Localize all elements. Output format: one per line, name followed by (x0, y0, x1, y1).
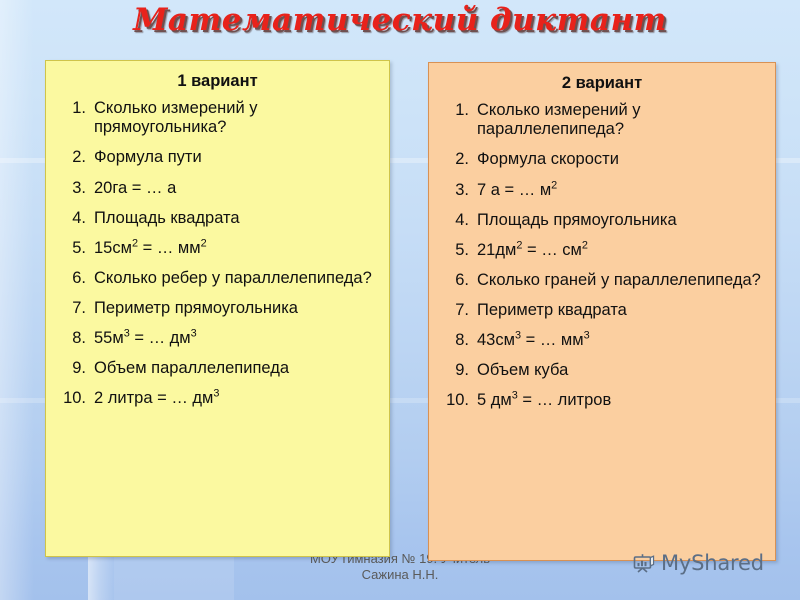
list-item-text: Сколько граней у параллелепипеда? (477, 271, 765, 290)
list-item: 6.Сколько ребер у параллелепипеда? (56, 269, 379, 288)
variant-2-question-list: 1.Сколько измерений у параллелепипеда?2.… (439, 101, 765, 410)
list-item-text: 55м3 = … дм3 (94, 329, 379, 348)
page-title: Математический диктант (0, 2, 800, 38)
list-item-text: Периметр прямоугольника (94, 299, 379, 318)
list-item-text: Сколько ребер у параллелепипеда? (94, 269, 379, 288)
list-item-number: 7. (439, 301, 469, 320)
list-item-text: Сколько измерений у параллелепипеда? (477, 101, 765, 139)
list-item-number: 1. (56, 99, 86, 118)
list-item-text: Формула пути (94, 148, 379, 167)
list-item-number: 1. (439, 101, 469, 120)
variant-1-heading: 1 вариант (56, 72, 379, 90)
list-item: 9.Объем параллелепипеда (56, 359, 379, 378)
myshared-watermark: MyShared (632, 551, 764, 575)
list-item-text: 21дм2 = … см2 (477, 241, 765, 260)
list-item-text: 7 а = … м2 (477, 181, 765, 200)
presentation-board-icon (632, 551, 656, 575)
list-item: 2.Формула скорости (439, 150, 765, 169)
list-item-number: 6. (56, 269, 86, 288)
list-item-number: 3. (56, 179, 86, 198)
list-item-text: Площадь прямоугольника (477, 211, 765, 230)
list-item-number: 3. (439, 181, 469, 200)
variant-2-heading: 2 вариант (439, 74, 765, 92)
list-item-text: 2 литра = … дм3 (94, 389, 379, 408)
list-item-text: Объем куба (477, 361, 765, 380)
list-item: 7.Периметр прямоугольника (56, 299, 379, 318)
list-item-number: 9. (439, 361, 469, 380)
variant-1-panel: 1 вариант 1.Сколько измерений у прямоуго… (45, 60, 390, 557)
list-item-number: 4. (439, 211, 469, 230)
list-item-number: 6. (439, 271, 469, 290)
variant-1-question-list: 1.Сколько измерений у прямоугольника?2.Ф… (56, 99, 379, 408)
list-item: 7.Периметр квадрата (439, 301, 765, 320)
list-item-number: 10. (56, 389, 86, 408)
list-item: 1.Сколько измерений у параллелепипеда? (439, 101, 765, 139)
slide-canvas: Математический диктант МОУ гимназия № 19… (0, 0, 800, 600)
list-item: 2.Формула пути (56, 148, 379, 167)
list-item-number: 2. (439, 150, 469, 169)
list-item-text: Сколько измерений у прямоугольника? (94, 99, 379, 137)
list-item: 8.55м3 = … дм3 (56, 329, 379, 348)
list-item-text: Площадь квадрата (94, 209, 379, 228)
list-item: 5.15см2 = … мм2 (56, 239, 379, 258)
list-item-text: 5 дм3 = … литров (477, 391, 765, 410)
list-item-number: 10. (439, 391, 469, 410)
list-item: 4.Площадь прямоугольника (439, 211, 765, 230)
list-item-text: 15см2 = … мм2 (94, 239, 379, 258)
variant-2-panel: 2 вариант 1.Сколько измерений у параллел… (428, 62, 776, 561)
list-item: 10.2 литра = … дм3 (56, 389, 379, 408)
list-item-number: 9. (56, 359, 86, 378)
list-item-text: Объем параллелепипеда (94, 359, 379, 378)
list-item-number: 5. (56, 239, 86, 258)
list-item: 1.Сколько измерений у прямоугольника? (56, 99, 379, 137)
list-item: 4.Площадь квадрата (56, 209, 379, 228)
list-item-text: Формула скорости (477, 150, 765, 169)
list-item: 9.Объем куба (439, 361, 765, 380)
list-item: 3.7 а = … м2 (439, 181, 765, 200)
list-item: 3.20га = … а (56, 179, 379, 198)
list-item-number: 2. (56, 148, 86, 167)
list-item: 8.43см3 = … мм3 (439, 331, 765, 350)
list-item-number: 8. (56, 329, 86, 348)
list-item: 5.21дм2 = … см2 (439, 241, 765, 260)
list-item-text: 43см3 = … мм3 (477, 331, 765, 350)
list-item-number: 4. (56, 209, 86, 228)
list-item-number: 7. (56, 299, 86, 318)
list-item-number: 5. (439, 241, 469, 260)
list-item-text: 20га = … а (94, 179, 379, 198)
list-item: 10.5 дм3 = … литров (439, 391, 765, 410)
list-item: 6.Сколько граней у параллелепипеда? (439, 271, 765, 290)
list-item-number: 8. (439, 331, 469, 350)
list-item-text: Периметр квадрата (477, 301, 765, 320)
myshared-watermark-label: MyShared (661, 551, 764, 575)
background-left-highlight (0, 0, 34, 600)
